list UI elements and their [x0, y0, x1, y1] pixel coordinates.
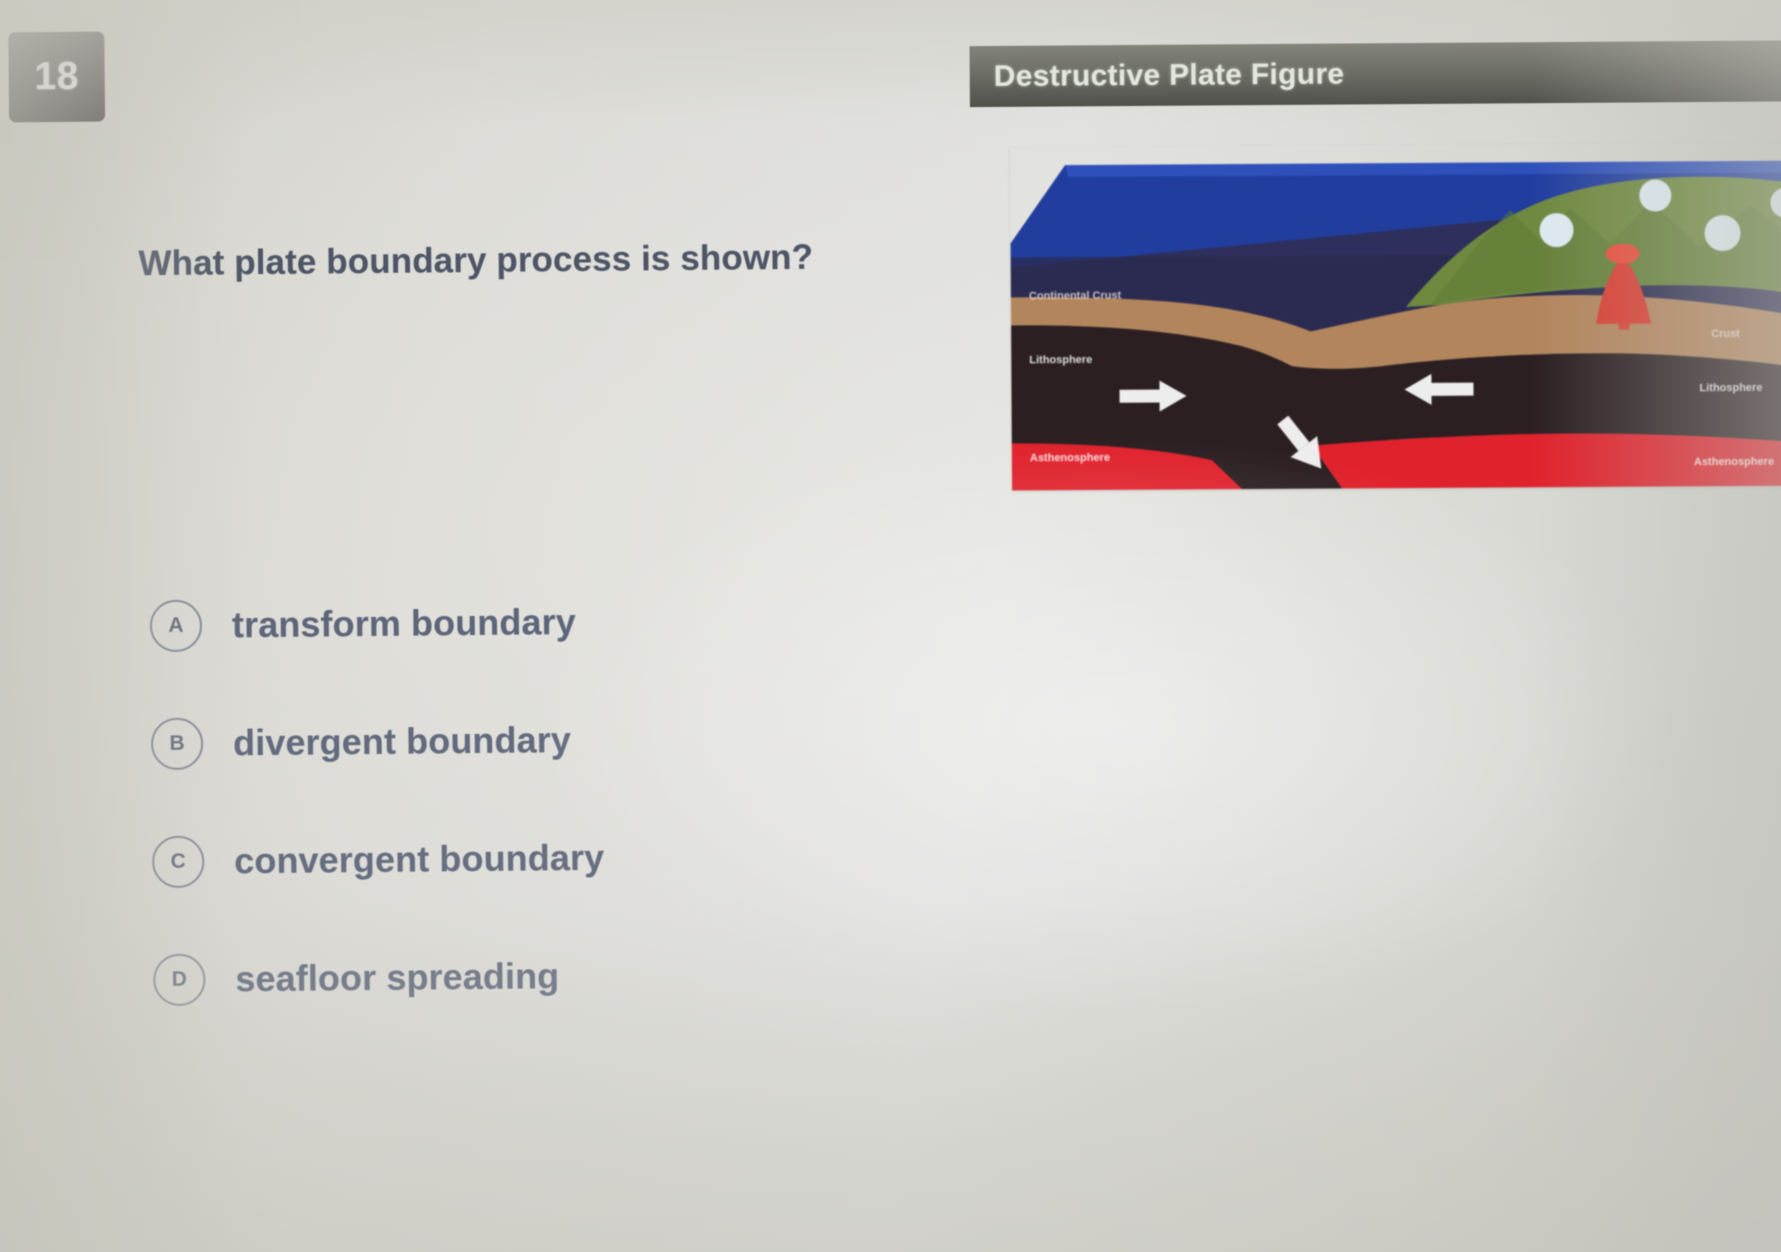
answer-options-list: A transform boundary B divergent boundar…: [149, 558, 1053, 1039]
option-label-d: seafloor spreading: [235, 955, 559, 1000]
label-asthenosphere-left: Asthenosphere: [1030, 452, 1110, 464]
option-letter-d: D: [153, 954, 205, 1006]
label-lithosphere-left: Lithosphere: [1029, 354, 1092, 366]
label-asthenosphere-right: Asthenosphere: [1694, 456, 1774, 468]
label-crust-right: Crust: [1711, 328, 1740, 340]
option-row-d[interactable]: D seafloor spreading: [153, 912, 1054, 1039]
option-row-b[interactable]: B divergent boundary: [151, 676, 1052, 803]
plate-boundary-diagram: Continental Crust Lithosphere Asthenosph…: [1010, 143, 1781, 491]
option-label-a: transform boundary: [232, 601, 576, 646]
question-prompt: What plate boundary process is shown?: [138, 235, 978, 285]
question-number: 18: [34, 55, 79, 99]
label-lithosphere-right: Lithosphere: [1699, 382, 1762, 394]
option-letter-c: C: [152, 836, 204, 888]
option-letter-a: A: [150, 600, 202, 652]
diagram-svg: Continental Crust Lithosphere Asthenosph…: [1010, 143, 1781, 491]
option-letter-b: B: [151, 718, 203, 770]
option-row-c[interactable]: C convergent boundary: [152, 794, 1053, 921]
option-label-c: convergent boundary: [234, 837, 604, 883]
label-continental-crust: Continental Crust: [1029, 290, 1122, 303]
snow-cap: [1639, 179, 1671, 211]
question-number-badge: 18: [8, 32, 105, 123]
option-row-a[interactable]: A transform boundary: [149, 558, 1050, 685]
figure-title: Destructive Plate Figure: [994, 57, 1345, 93]
quiz-page: 18 Destructive Plate Figure What plate b…: [0, 0, 1781, 1252]
snow-cap: [1539, 213, 1573, 247]
snow-cap: [1704, 215, 1740, 251]
figure-title-bar: Destructive Plate Figure: [970, 40, 1781, 107]
option-label-b: divergent boundary: [233, 719, 571, 764]
